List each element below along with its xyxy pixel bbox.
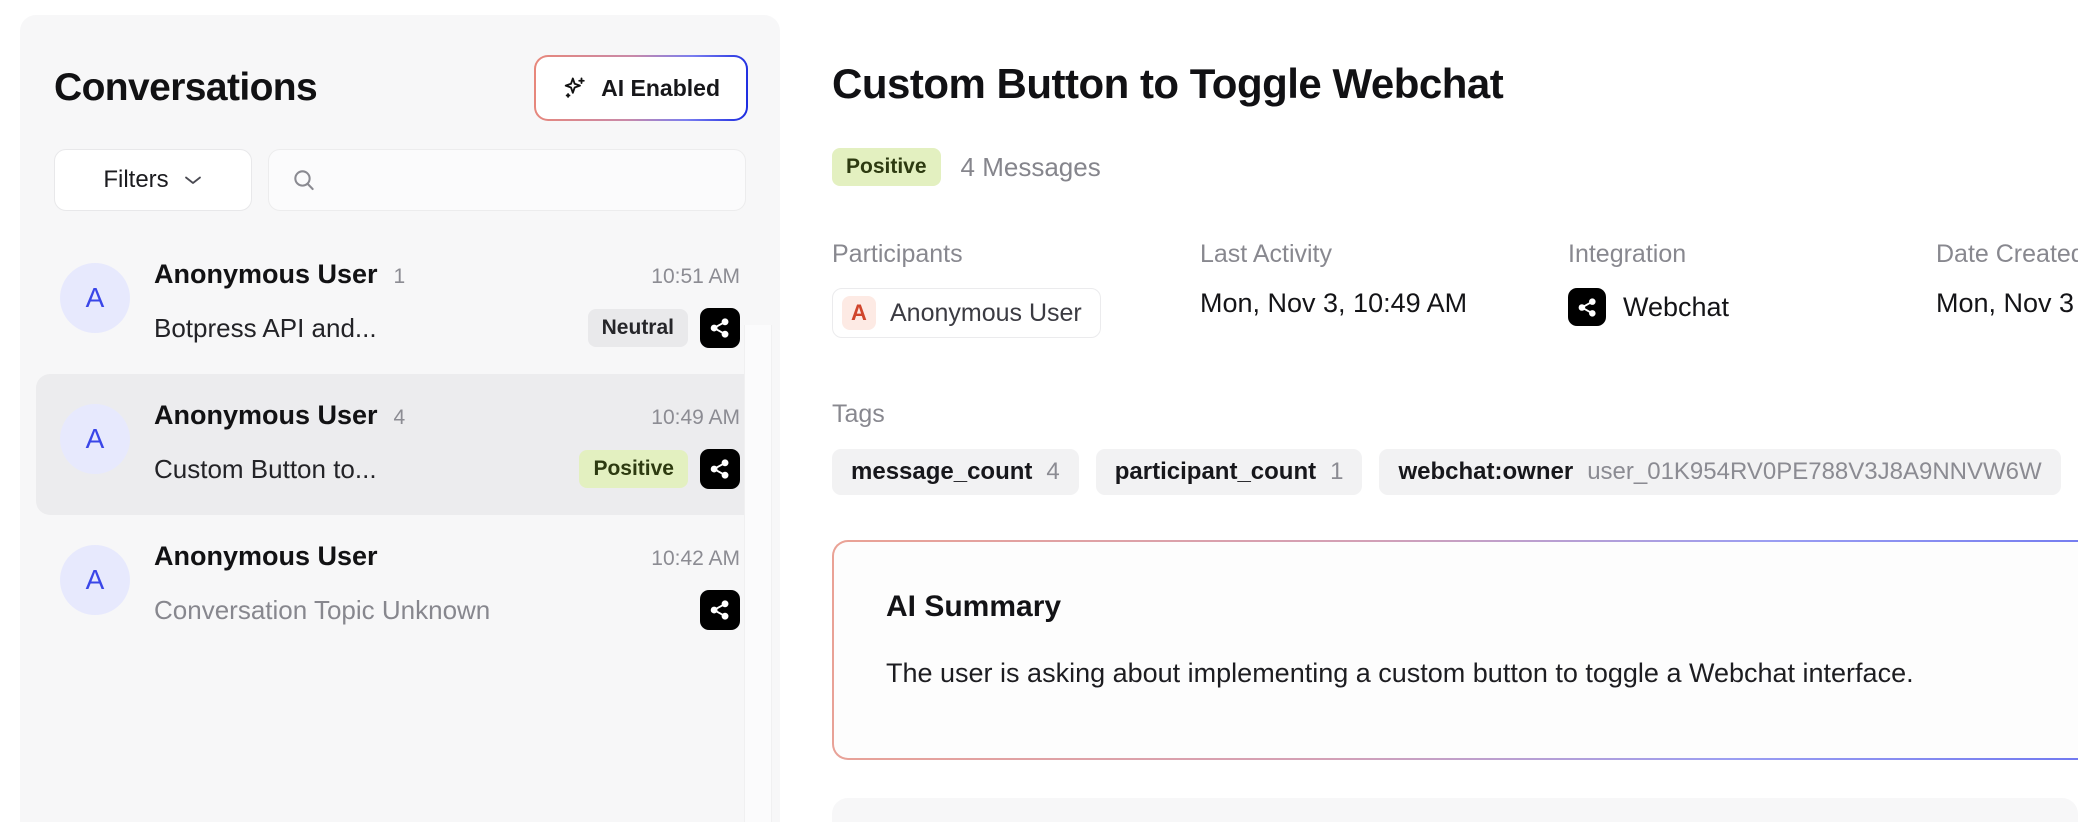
tag-key: webchat:owner xyxy=(1398,458,1573,486)
tags-section: Tags message_count 4 participant_count 1… xyxy=(832,400,2061,495)
search-box[interactable] xyxy=(268,149,746,211)
tag-chip[interactable]: webchat:owner user_01K954RV0PE788V3J8A9N… xyxy=(1379,449,2060,495)
metadata-date-created: Date Created Mon, Nov 3 xyxy=(1936,240,2078,338)
conversations-panel: Conversations AI Enabled Filters xyxy=(20,15,780,822)
list-item-top: Anonymous User 1 10:51 AM xyxy=(154,259,740,290)
detail-title: Custom Button to Toggle Webchat xyxy=(832,60,1503,108)
tags-label: Tags xyxy=(832,400,2061,429)
list-item-bottom: Custom Button to... Positive xyxy=(154,449,740,489)
metadata-value: A Anonymous User xyxy=(832,288,1200,338)
ai-enabled-label: AI Enabled xyxy=(601,75,720,102)
share-icon[interactable] xyxy=(700,590,740,630)
metadata-label: Last Activity xyxy=(1200,240,1568,269)
message-count-badge: 1 xyxy=(394,265,406,289)
metadata-grid: Participants A Anonymous User Last Activ… xyxy=(832,240,2078,338)
status-badge: Positive xyxy=(579,450,688,488)
timestamp: 10:42 AM xyxy=(651,547,740,571)
filters-row: Filters xyxy=(20,119,780,211)
detail-subheader: Positive 4 Messages xyxy=(832,148,1101,186)
timestamp: 10:51 AM xyxy=(651,265,740,289)
ai-summary-card: AI Summary The user is asking about impl… xyxy=(832,540,2078,760)
tag-value: 4 xyxy=(1046,458,1059,486)
list-item-body: Anonymous User 1 10:51 AM Botpress API a… xyxy=(154,259,740,348)
list-item-body: Anonymous User 10:42 AM Conversation Top… xyxy=(154,541,740,630)
metadata-label: Date Created xyxy=(1936,240,2078,269)
avatar: A xyxy=(842,296,876,330)
list-item-top: Anonymous User 10:42 AM xyxy=(154,541,740,572)
app-root: Conversations AI Enabled Filters xyxy=(0,0,2078,822)
integration-name: Webchat xyxy=(1623,292,1729,323)
ai-summary-text: The user is asking about implementing a … xyxy=(886,658,1914,689)
tags-row: message_count 4 participant_count 1 webc… xyxy=(832,449,2061,495)
conversation-name: Anonymous User xyxy=(154,541,378,572)
page-title: Conversations xyxy=(54,66,317,110)
tag-chip[interactable]: participant_count 1 xyxy=(1096,449,1363,495)
metadata-value: Mon, Nov 3 xyxy=(1936,288,2078,319)
conversations-header: Conversations AI Enabled xyxy=(20,15,780,119)
ai-summary-title: AI Summary xyxy=(886,590,1061,624)
tag-value: user_01K954RV0PE788V3J8A9NNVW6W xyxy=(1587,458,2041,486)
conversation-preview: Conversation Topic Unknown xyxy=(154,595,490,626)
search-icon xyxy=(291,167,317,193)
metadata-label: Integration xyxy=(1568,240,1936,269)
list-item-top: Anonymous User 4 10:49 AM xyxy=(154,400,740,431)
share-icon[interactable] xyxy=(700,308,740,348)
status-badge: Positive xyxy=(832,148,941,186)
list-item[interactable]: A Anonymous User 10:42 AM Conversation T… xyxy=(36,515,764,656)
share-icon[interactable] xyxy=(700,449,740,489)
tag-chip[interactable]: message_count 4 xyxy=(832,449,1079,495)
list-item-body: Anonymous User 4 10:49 AM Custom Button … xyxy=(154,400,740,489)
participant-name: Anonymous User xyxy=(890,299,1082,328)
conversation-name: Anonymous User xyxy=(154,259,378,290)
avatar: A xyxy=(60,404,130,474)
search-input[interactable] xyxy=(331,167,723,194)
conversation-list: A Anonymous User 1 10:51 AM Botpress API… xyxy=(20,211,780,656)
conversation-name: Anonymous User xyxy=(154,400,378,431)
message-count-label: 4 Messages xyxy=(961,152,1101,183)
avatar: A xyxy=(60,545,130,615)
conversation-preview: Custom Button to... xyxy=(154,454,377,485)
conversation-detail-panel: Custom Button to Toggle Webchat Positive… xyxy=(832,0,2078,822)
list-item-bottom: Conversation Topic Unknown xyxy=(154,590,740,630)
filters-label: Filters xyxy=(103,166,168,194)
tag-key: participant_count xyxy=(1115,458,1316,486)
metadata-integration: Integration Webchat xyxy=(1568,240,1936,338)
timestamp: 10:49 AM xyxy=(651,406,740,430)
message-count-badge: 4 xyxy=(394,406,406,430)
participant-chip[interactable]: A Anonymous User xyxy=(832,288,1101,338)
avatar: A xyxy=(60,263,130,333)
status-badge: Neutral xyxy=(588,309,688,347)
ai-enabled-button[interactable]: AI Enabled xyxy=(536,57,746,119)
sparkle-icon xyxy=(562,75,588,101)
filters-button[interactable]: Filters xyxy=(54,149,252,211)
messages-panel xyxy=(832,798,2078,822)
list-item-actions: Positive xyxy=(579,449,740,489)
metadata-value: Mon, Nov 3, 10:49 AM xyxy=(1200,288,1568,319)
conversation-preview: Botpress API and... xyxy=(154,313,377,344)
tag-key: message_count xyxy=(851,458,1032,486)
metadata-last-activity: Last Activity Mon, Nov 3, 10:49 AM xyxy=(1200,240,1568,338)
metadata-participants: Participants A Anonymous User xyxy=(832,240,1200,338)
list-item-actions xyxy=(700,590,740,630)
share-icon xyxy=(1568,288,1606,326)
list-item-bottom: Botpress API and... Neutral xyxy=(154,308,740,348)
chevron-down-icon xyxy=(183,174,203,186)
list-item-actions: Neutral xyxy=(588,308,740,348)
metadata-label: Participants xyxy=(832,240,1200,269)
list-item[interactable]: A Anonymous User 1 10:51 AM Botpress API… xyxy=(36,233,764,374)
conversation-list-scrollbar[interactable] xyxy=(744,325,772,822)
tag-value: 1 xyxy=(1330,458,1343,486)
list-item[interactable]: A Anonymous User 4 10:49 AM Custom Butto… xyxy=(36,374,764,515)
metadata-value: Webchat xyxy=(1568,288,1936,326)
